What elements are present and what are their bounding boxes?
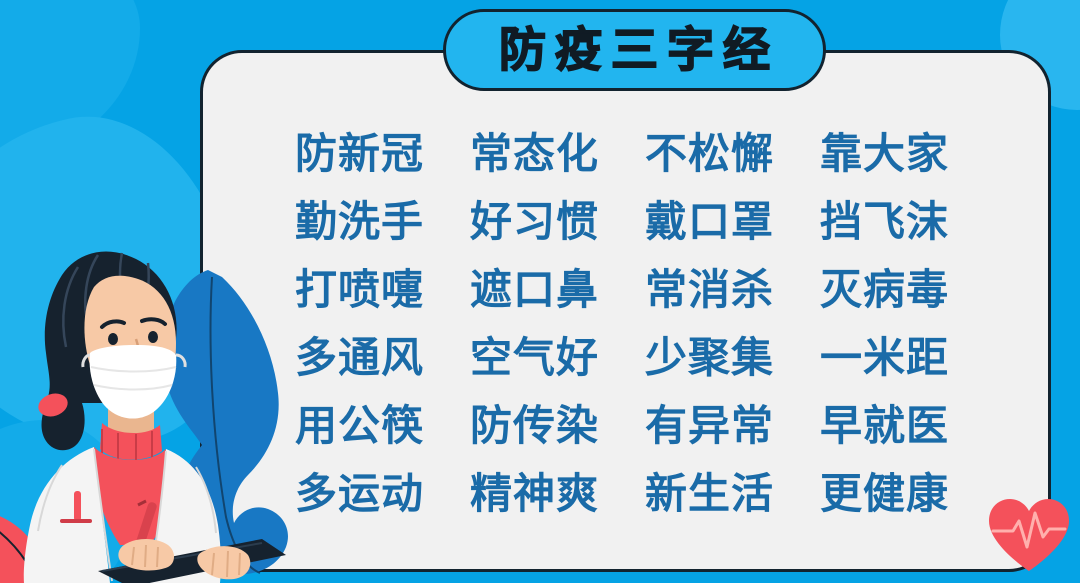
- slogan-item: 有异常: [645, 392, 820, 460]
- slogan-item: 防新冠: [295, 120, 470, 188]
- slogan-item: 常态化: [470, 120, 645, 188]
- slogan-grid: 防新冠 常态化 不松懈 靠大家 勤洗手 好习惯 戴口罩 挡飞沫 打喷嚏 遮口鼻 …: [295, 120, 995, 528]
- slogan-item: 不松懈: [645, 120, 820, 188]
- slogan-item: 常消杀: [645, 256, 820, 324]
- slogan-item: 戴口罩: [645, 188, 820, 256]
- slogan-item: 更健康: [820, 460, 995, 528]
- face-mask: [83, 345, 185, 419]
- slogan-item: 新生活: [645, 460, 820, 528]
- slogan-item: 防传染: [470, 392, 645, 460]
- slogan-item: 多通风: [295, 324, 470, 392]
- poster-canvas: 防疫三字经 防新冠 常态化 不松懈 靠大家 勤洗手 好习惯 戴口罩 挡飞沫 打喷…: [0, 0, 1080, 583]
- coat-pocket-pen: [74, 491, 81, 521]
- slogan-item: 空气好: [470, 324, 645, 392]
- slogan-item: 早就医: [820, 392, 995, 460]
- slogan-item: 靠大家: [820, 120, 995, 188]
- title-badge: 防疫三字经: [443, 9, 826, 91]
- slogan-item: 少聚集: [645, 324, 820, 392]
- slogan-item: 灭病毒: [820, 256, 995, 324]
- slogan-item: 用公筷: [295, 392, 470, 460]
- eye-left: [108, 333, 118, 345]
- eye-right: [148, 331, 158, 343]
- heart-pulse-icon: [985, 495, 1073, 575]
- slogan-item: 多运动: [295, 460, 470, 528]
- slogan-item: 勤洗手: [295, 188, 470, 256]
- background-blob-top-left: [0, 0, 140, 160]
- slogan-item: 好习惯: [470, 188, 645, 256]
- female-doctor-illustration: [0, 215, 290, 583]
- page-title: 防疫三字经: [490, 27, 779, 74]
- slogan-item: 一米距: [820, 324, 995, 392]
- slogan-item: 遮口鼻: [470, 256, 645, 324]
- slogan-item: 挡飞沫: [820, 188, 995, 256]
- slogan-item: 精神爽: [470, 460, 645, 528]
- slogan-item: 打喷嚏: [295, 256, 470, 324]
